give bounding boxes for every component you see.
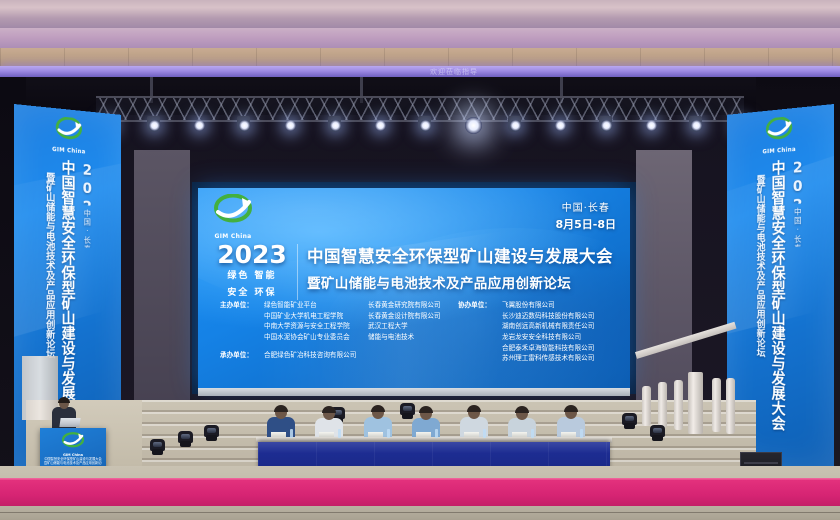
host-item: 长春黄金研究院有限公司 bbox=[368, 300, 460, 311]
banner-right-logo-text: GIM China bbox=[758, 146, 800, 156]
host-item: 长春黄金设计院有限公司 bbox=[368, 311, 460, 322]
screen-year: 2023 bbox=[216, 242, 288, 267]
panel-member-hair bbox=[467, 405, 481, 412]
balustrade-newel-post bbox=[688, 372, 703, 434]
water-bottle bbox=[290, 429, 293, 438]
host-item: 中国水泥协会矿山专业委员会 bbox=[264, 332, 368, 343]
screen-city: 中国·长春 bbox=[555, 202, 616, 217]
stage-moving-head-light bbox=[650, 424, 665, 441]
truss-lamp bbox=[646, 120, 657, 131]
name-plate bbox=[319, 432, 334, 437]
name-plate bbox=[464, 432, 479, 437]
baluster bbox=[674, 380, 683, 430]
light-lens bbox=[207, 428, 216, 433]
banner-left-year: 2023 bbox=[79, 161, 95, 206]
host-item: 武汉工程大学 bbox=[368, 321, 460, 332]
truss-lamp bbox=[691, 120, 702, 131]
panel-member-hair bbox=[515, 406, 529, 413]
truss-lamp bbox=[601, 120, 612, 131]
cohost-label: 协办单位： bbox=[458, 300, 502, 311]
ceiling-led-strip: 欢迎莅临指导 bbox=[0, 66, 840, 77]
truss-lamp bbox=[330, 120, 341, 131]
water-bottle bbox=[531, 429, 534, 438]
banner-right-year: 2023 bbox=[789, 158, 806, 204]
truss-lamp bbox=[465, 117, 482, 134]
cohost-row: 协办单位： 飞翼股份有限公司长沙迪迈数码科技股份有限公司湖南创远高新机械有限责任… bbox=[458, 300, 618, 364]
screen-year-box: 2023 绿色 智能 安全 环保 bbox=[216, 242, 288, 300]
screen-title-sub: 暨矿山储能与电池技术及产品应用创新论坛 bbox=[307, 272, 616, 292]
organizer-label: 承办单位： bbox=[220, 350, 264, 361]
stage-moving-head-light bbox=[150, 438, 165, 455]
banner-left-logo-text: GIM China bbox=[48, 146, 90, 156]
screen-title-block: 2023 绿色 智能 安全 环保 中国智慧安全环保型矿山建设与发展大会 暨矿山储… bbox=[216, 242, 616, 300]
host-item: 中南大学资源与安全工程学院 bbox=[264, 321, 368, 332]
light-lens bbox=[181, 434, 190, 439]
screen-logo: GIM China bbox=[206, 194, 260, 240]
name-plate bbox=[416, 432, 431, 437]
name-plate bbox=[561, 432, 576, 437]
panel-member-hair bbox=[564, 405, 578, 412]
host-label: 主办单位： bbox=[220, 300, 264, 311]
name-plate bbox=[368, 432, 383, 437]
screen-venue-block: 中国·长春 8月5日-8日 bbox=[555, 202, 616, 232]
stage-moving-head-light bbox=[204, 424, 219, 441]
light-lens bbox=[625, 416, 634, 421]
banner-right-city: 中国·长春 bbox=[793, 207, 803, 247]
banner-right-subtitle: 暨矿山储能与电池技术及产品应用创新论坛 bbox=[753, 174, 766, 415]
light-base bbox=[206, 435, 217, 441]
light-base bbox=[624, 423, 635, 429]
truss-lamp bbox=[285, 120, 296, 131]
stage-moving-head-light bbox=[622, 412, 637, 429]
screen-title-divider bbox=[297, 244, 298, 300]
cohost-list: 飞翼股份有限公司长沙迪迈数码科技股份有限公司湖南创远高新机械有限责任公司龙岩龙安… bbox=[502, 300, 594, 364]
water-bottle bbox=[483, 429, 486, 438]
screen-date: 8月5日-8日 bbox=[555, 217, 616, 233]
screen-slogan-line2: 安全 环保 bbox=[216, 287, 288, 301]
cohost-item: 湖南创远高新机械有限责任公司 bbox=[502, 321, 594, 332]
light-base bbox=[652, 435, 663, 441]
screen-titles: 中国智慧安全环保型矿山建设与发展大会 暨矿山储能与电池技术及产品应用创新论坛 bbox=[307, 242, 616, 292]
water-bottle bbox=[387, 429, 390, 438]
panel-member-hair bbox=[371, 405, 385, 412]
name-plate bbox=[512, 432, 527, 437]
podium-laptop bbox=[59, 418, 80, 427]
screen-slogan-line1: 绿色 智能 bbox=[216, 270, 288, 284]
led-screen-base bbox=[198, 388, 630, 396]
water-bottle bbox=[435, 429, 438, 438]
speaker-hair bbox=[58, 397, 70, 403]
podium-logo: GIM China bbox=[58, 432, 88, 456]
name-plate bbox=[271, 432, 286, 437]
pink-carpet-runner bbox=[0, 480, 840, 508]
host-item: 储能与电池技术 bbox=[368, 332, 460, 343]
screen-title-main: 中国智慧安全环保型矿山建设与发展大会 bbox=[307, 243, 616, 267]
ceiling-cove-light bbox=[0, 28, 840, 50]
baluster bbox=[726, 378, 735, 434]
conference-stage-photo: 欢迎莅临指导 GIM China 2023 中国·长春 中国智慧安全环保型矿山建… bbox=[0, 0, 840, 520]
water-bottle bbox=[338, 429, 341, 438]
balustrade-right bbox=[636, 352, 740, 428]
gim-china-logo-icon bbox=[53, 116, 84, 144]
host-list-column-a: 绿色智能矿业平台中国矿业大学机电工程学院中南大学资源与安全工程学院中国水泥协会矿… bbox=[264, 300, 368, 343]
water-bottle bbox=[580, 429, 583, 438]
baluster bbox=[658, 382, 667, 428]
light-lens bbox=[653, 428, 662, 433]
panel-member-hair bbox=[322, 406, 336, 413]
panel-member-hair bbox=[274, 405, 288, 412]
floor-joint-line bbox=[0, 512, 840, 513]
ceiling-led-text: 欢迎莅临指导 bbox=[430, 67, 478, 77]
stone-wall-band bbox=[0, 48, 840, 68]
cohost-item: 合肥泰禾卓海智能科技有限公司 bbox=[502, 343, 594, 354]
host-item: 中国矿业大学机电工程学院 bbox=[264, 311, 368, 322]
screen-sponsor-block: 主办单位： 绿色智能矿业平台中国矿业大学机电工程学院中南大学资源与安全工程学院中… bbox=[220, 300, 616, 360]
gim-china-logo-icon bbox=[60, 432, 86, 449]
truss-lamp bbox=[375, 120, 386, 131]
hall-ceiling bbox=[0, 0, 840, 30]
cohost-item: 龙岩龙安安全科技有限公司 bbox=[502, 332, 594, 343]
stage-moving-head-light bbox=[178, 430, 193, 447]
main-led-screen: GIM China 中国·长春 8月5日-8日 2023 绿色 智能 安全 环保… bbox=[198, 188, 630, 388]
baluster bbox=[712, 378, 721, 432]
banner-left-logo: GIM China bbox=[48, 115, 90, 157]
banner-right-logo: GIM China bbox=[758, 115, 800, 157]
light-lens bbox=[153, 442, 162, 447]
truss-lamp bbox=[420, 120, 431, 131]
host-item: 绿色智能矿业平台 bbox=[264, 300, 368, 311]
cohost-item: 苏州理工雷科传感技术有限公司 bbox=[502, 353, 594, 364]
cohost-item: 长沙迪迈数码科技股份有限公司 bbox=[502, 311, 594, 322]
banner-right-title: 中国智慧安全环保型矿山建设与发展大会 bbox=[768, 159, 788, 451]
gim-china-logo-icon bbox=[764, 116, 795, 144]
light-base bbox=[152, 449, 163, 455]
light-base bbox=[180, 441, 191, 447]
panel-member-hair bbox=[419, 406, 433, 413]
banner-left-city: 中国·长春 bbox=[82, 209, 92, 248]
host-list-column-b: 长春黄金研究院有限公司长春黄金设计院有限公司武汉工程大学储能与电池技术 bbox=[368, 300, 460, 343]
organizer-value: 合肥绿色矿冶科技咨询有限公司 bbox=[264, 350, 356, 361]
hall-floor-front bbox=[0, 506, 840, 520]
cohost-item: 飞翼股份有限公司 bbox=[502, 300, 594, 311]
stage-pillar-left bbox=[134, 150, 190, 415]
screen-logo-text: GIM China bbox=[206, 233, 260, 240]
baluster bbox=[642, 386, 651, 426]
gim-china-logo-icon bbox=[211, 194, 255, 228]
